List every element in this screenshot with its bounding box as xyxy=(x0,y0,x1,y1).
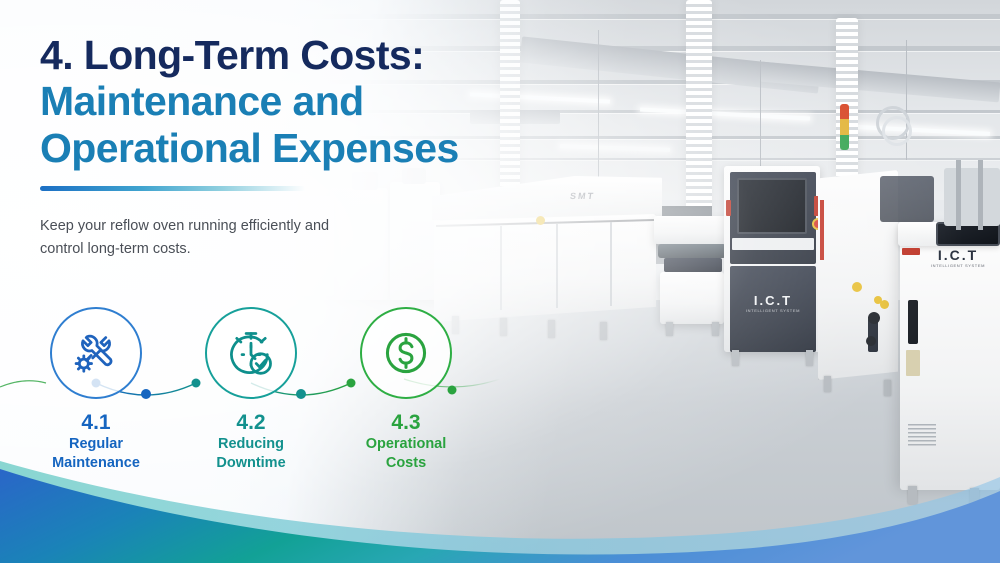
slide-root: SMT I.C.TINTELLIGENT SYSTEM xyxy=(0,0,1000,563)
title-line-2: Maintenance and xyxy=(40,78,560,124)
bottom-wave-decoration xyxy=(0,373,1000,563)
page-title: 4. Long-Term Costs: Maintenance and Oper… xyxy=(40,32,560,171)
dollar-circle-icon xyxy=(379,326,433,380)
subtitle-text: Keep your reflow oven running efficientl… xyxy=(40,215,360,261)
wrench-gear-icon xyxy=(70,327,122,379)
title-divider xyxy=(40,186,305,191)
stopwatch-check-icon xyxy=(225,327,277,379)
title-line-1: 4. Long-Term Costs: xyxy=(40,32,560,78)
title-line-3: Operational Expenses xyxy=(40,125,560,171)
